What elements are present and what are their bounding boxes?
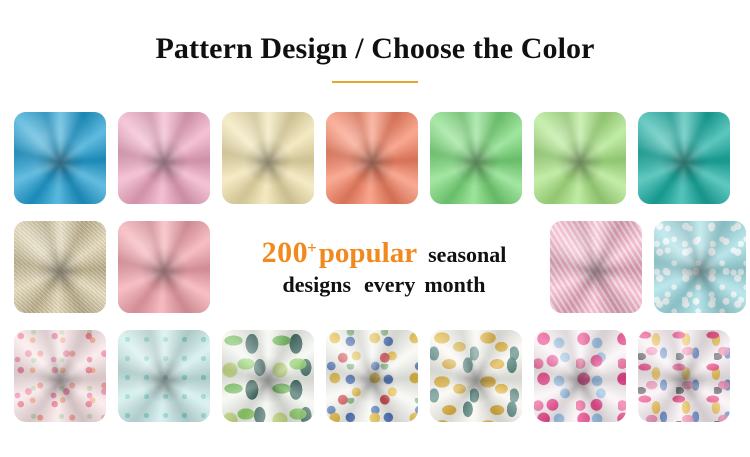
swatch-highlight xyxy=(222,330,314,422)
swatch-blue[interactable] xyxy=(14,112,106,204)
swatch-highlight xyxy=(534,112,626,204)
swatch-highlight xyxy=(118,330,210,422)
swatch-highlight xyxy=(550,221,642,313)
swatch-highlight xyxy=(654,221,746,313)
promo-plus-sign: + xyxy=(307,238,317,257)
swatch-blue-floral[interactable] xyxy=(654,221,746,313)
swatch-highlight xyxy=(638,330,730,422)
swatch-highlight xyxy=(14,330,106,422)
swatch-highlight xyxy=(326,330,418,422)
promo-line-1: 200+popularseasonal xyxy=(262,236,507,270)
swatch-teal[interactable] xyxy=(638,112,730,204)
promo-word-seasonal: seasonal xyxy=(428,242,506,267)
promo-line-2: designseverymonth xyxy=(283,273,486,298)
title-divider xyxy=(332,81,418,83)
swatch-highlight xyxy=(14,221,106,313)
solid-colors-row xyxy=(14,112,738,204)
swatch-highlight xyxy=(326,112,418,204)
swatch-highlight xyxy=(118,221,210,313)
swatch-light-green[interactable] xyxy=(534,112,626,204)
swatch-highlight xyxy=(430,112,522,204)
swatch-highlight xyxy=(222,112,314,204)
promo-word-designs: designs xyxy=(283,272,351,297)
swatch-abstract-print[interactable] xyxy=(638,330,730,422)
swatch-coral[interactable] xyxy=(326,112,418,204)
swatch-highlight xyxy=(430,330,522,422)
promo-word-popular: popular xyxy=(319,237,417,269)
swatch-daisy-print[interactable] xyxy=(326,330,418,422)
promo-word-every: every xyxy=(364,272,415,297)
swatch-pink-floral-print[interactable] xyxy=(14,330,106,422)
swatch-highlight xyxy=(118,112,210,204)
swatch-highlight xyxy=(638,112,730,204)
printed-patterns-row xyxy=(14,330,738,422)
swatch-highlight xyxy=(534,330,626,422)
promo-count: 200 xyxy=(262,236,309,269)
swatch-cream[interactable] xyxy=(222,112,314,204)
promo-copy-block: 200+popularseasonal designseverymonth xyxy=(226,221,542,313)
swatch-tropical-green[interactable] xyxy=(222,330,314,422)
swatch-green[interactable] xyxy=(430,112,522,204)
swatch-grid: 200+popularseasonal designseverymonth xyxy=(14,112,738,439)
swatch-pink-stripe[interactable] xyxy=(550,221,642,313)
pattern-design-banner: Pattern Design / Choose the Color 200+po… xyxy=(0,0,750,457)
swatch-poppy-print[interactable] xyxy=(534,330,626,422)
textured-colors-row: 200+popularseasonal designseverymonth xyxy=(14,221,738,313)
swatch-lemon-print[interactable] xyxy=(430,330,522,422)
swatch-mint-dots[interactable] xyxy=(118,330,210,422)
page-title: Pattern Design / Choose the Color xyxy=(0,0,750,64)
swatch-rose[interactable] xyxy=(118,221,210,313)
swatch-beige-knit[interactable] xyxy=(14,221,106,313)
swatch-highlight xyxy=(14,112,106,204)
banner-header: Pattern Design / Choose the Color xyxy=(0,0,750,83)
promo-word-month: month xyxy=(424,272,485,297)
swatch-pink[interactable] xyxy=(118,112,210,204)
